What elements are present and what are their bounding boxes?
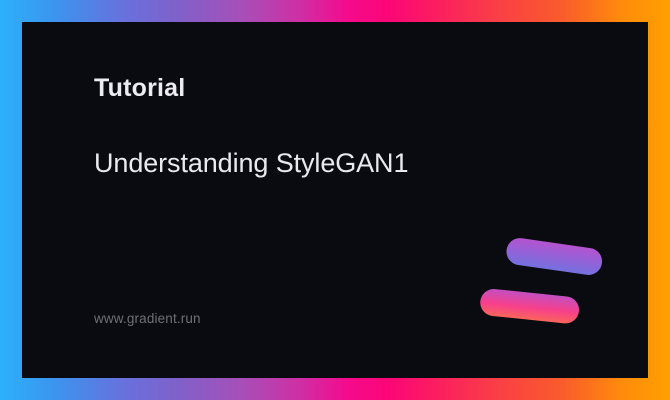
card-eyebrow-label: Tutorial bbox=[94, 74, 185, 103]
card-content: Tutorial Understanding StyleGAN1 www.gra… bbox=[22, 22, 648, 378]
card-footer-url: www.gradient.run bbox=[94, 311, 201, 326]
tutorial-banner-card: Tutorial Understanding StyleGAN1 www.gra… bbox=[0, 0, 670, 400]
gradient-logo bbox=[460, 194, 620, 354]
card-headline: Understanding StyleGAN1 bbox=[94, 148, 408, 179]
dark-content-panel: Tutorial Understanding StyleGAN1 www.gra… bbox=[22, 22, 648, 378]
